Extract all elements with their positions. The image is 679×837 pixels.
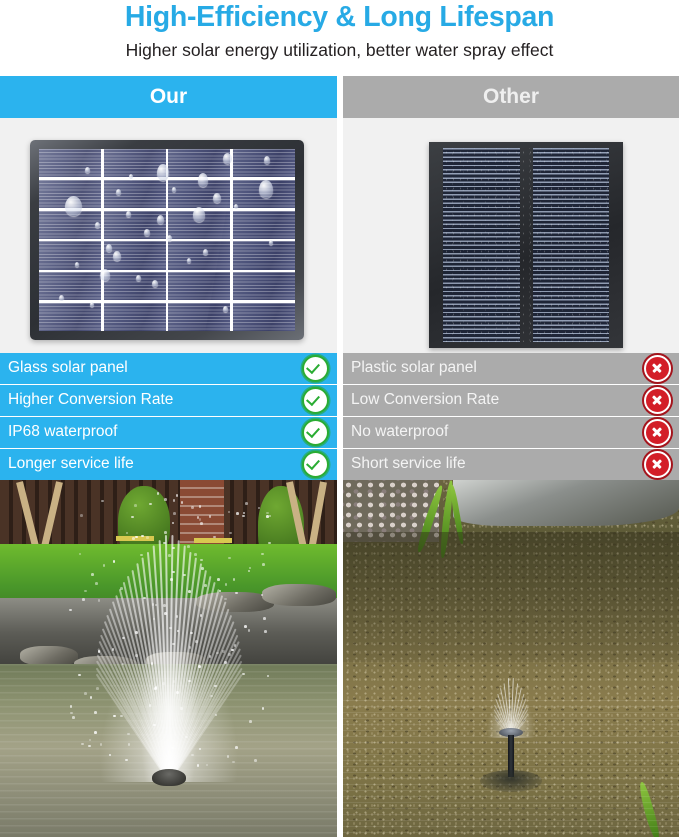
cross-circle-icon	[644, 387, 671, 414]
solar-cell	[233, 149, 295, 177]
column-header-other-label: Other	[343, 76, 679, 118]
title-block: High-Efficiency & Long Lifespan Higher s…	[0, 0, 679, 76]
solar-cell	[39, 272, 101, 300]
water-droplet	[65, 196, 82, 216]
water-droplet	[152, 280, 158, 287]
column-header-other: Other	[343, 76, 679, 118]
water-droplet	[75, 262, 79, 267]
solar-cell	[233, 241, 295, 269]
feature-label: IP68 waterproof	[0, 423, 293, 441]
plastic-cell-strip	[533, 148, 610, 342]
check-circle-icon	[302, 451, 329, 478]
check-circle-icon	[302, 387, 329, 414]
solar-cell	[233, 272, 295, 300]
feature-label: Higher Conversion Rate	[0, 391, 293, 409]
water-droplet	[157, 164, 169, 181]
feature-label: No waterproof	[343, 423, 635, 441]
feature-label: Plastic solar panel	[343, 359, 635, 377]
feature-status-icon-wrap	[293, 387, 337, 414]
pond-water	[0, 664, 337, 837]
water-droplet	[90, 302, 94, 307]
feature-status-icon-wrap	[293, 355, 337, 382]
solar-cell	[233, 211, 295, 239]
water-droplet	[157, 215, 164, 224]
stone	[20, 646, 78, 666]
water-droplet	[234, 204, 238, 209]
swing-bar	[116, 536, 154, 541]
water-ripples	[0, 664, 337, 837]
cross-circle-icon	[644, 451, 671, 478]
fountain-base-shadow	[480, 770, 542, 792]
solar-cell	[39, 241, 101, 269]
column-header-our-label: Our	[0, 76, 337, 118]
fountain-nozzle	[152, 769, 186, 786]
cross-circle-icon	[644, 355, 671, 382]
feature-label: Short service life	[343, 455, 635, 473]
feature-row: IP68 waterproof	[0, 417, 337, 448]
feature-status-icon-wrap	[635, 451, 679, 478]
solar-cell	[104, 303, 166, 331]
result-photo-other	[343, 480, 679, 837]
column-header-our: Our	[0, 76, 337, 118]
feature-row: Glass solar panel	[0, 353, 337, 384]
solar-cell	[168, 303, 230, 331]
feature-row: Higher Conversion Rate	[0, 385, 337, 416]
feature-status-icon-wrap	[293, 451, 337, 478]
water-droplet	[193, 207, 205, 222]
glass-solar-panel-image	[30, 140, 304, 340]
product-image-other	[343, 118, 679, 353]
feature-list-our: Glass solar panelHigher Conversion RateI…	[0, 353, 337, 481]
feature-row: Plastic solar panel	[343, 353, 679, 384]
water-droplet	[136, 275, 141, 281]
comparison-infographic: High-Efficiency & Long Lifespan Higher s…	[0, 0, 679, 837]
shadowed-water	[343, 532, 679, 662]
water-droplet	[116, 189, 121, 195]
swing-bar	[194, 538, 232, 543]
check-circle-icon	[302, 355, 329, 382]
feature-row: Longer service life	[0, 449, 337, 480]
water-droplet	[198, 173, 208, 187]
water-droplet	[259, 180, 273, 198]
water-droplet	[106, 244, 112, 252]
feature-row: Short service life	[343, 449, 679, 480]
solar-cell	[168, 272, 230, 300]
feature-status-icon-wrap	[635, 355, 679, 382]
plastic-panel-surface	[443, 148, 609, 342]
glass-panel-surface	[39, 149, 295, 331]
water-droplet	[213, 193, 221, 203]
solar-cell	[39, 149, 101, 177]
water-droplet	[113, 251, 121, 261]
solar-cell	[39, 303, 101, 331]
feature-label: Longer service life	[0, 455, 293, 473]
water-droplet	[167, 235, 172, 241]
feature-label: Glass solar panel	[0, 359, 293, 377]
feature-list-other: Plastic solar panelLow Conversion RateNo…	[343, 353, 679, 481]
check-circle-icon	[302, 419, 329, 446]
feature-label: Low Conversion Rate	[343, 391, 635, 409]
plastic-cell-strip	[443, 148, 520, 342]
plastic-solar-panel-image	[429, 142, 623, 348]
result-photo-our	[0, 480, 337, 837]
water-droplet	[144, 229, 150, 236]
water-droplet	[223, 153, 232, 164]
feature-row: No waterproof	[343, 417, 679, 448]
feature-row: Low Conversion Rate	[343, 385, 679, 416]
feature-status-icon-wrap	[293, 419, 337, 446]
solar-cell	[168, 241, 230, 269]
water-droplet	[126, 211, 131, 217]
stone	[262, 584, 336, 606]
solar-cell	[168, 149, 230, 177]
weak-fountain-spray	[463, 662, 559, 738]
water-droplet	[129, 174, 133, 179]
page-title: High-Efficiency & Long Lifespan	[0, 0, 679, 34]
solar-cell	[104, 211, 166, 239]
product-image-our	[0, 118, 337, 353]
solar-cell	[104, 180, 166, 208]
feature-status-icon-wrap	[635, 387, 679, 414]
solar-cell	[233, 303, 295, 331]
water-droplet	[203, 249, 208, 255]
page-subtitle: Higher solar energy utilization, better …	[0, 37, 679, 63]
cross-circle-icon	[644, 419, 671, 446]
flat-stone	[453, 480, 679, 526]
feature-status-icon-wrap	[635, 419, 679, 446]
